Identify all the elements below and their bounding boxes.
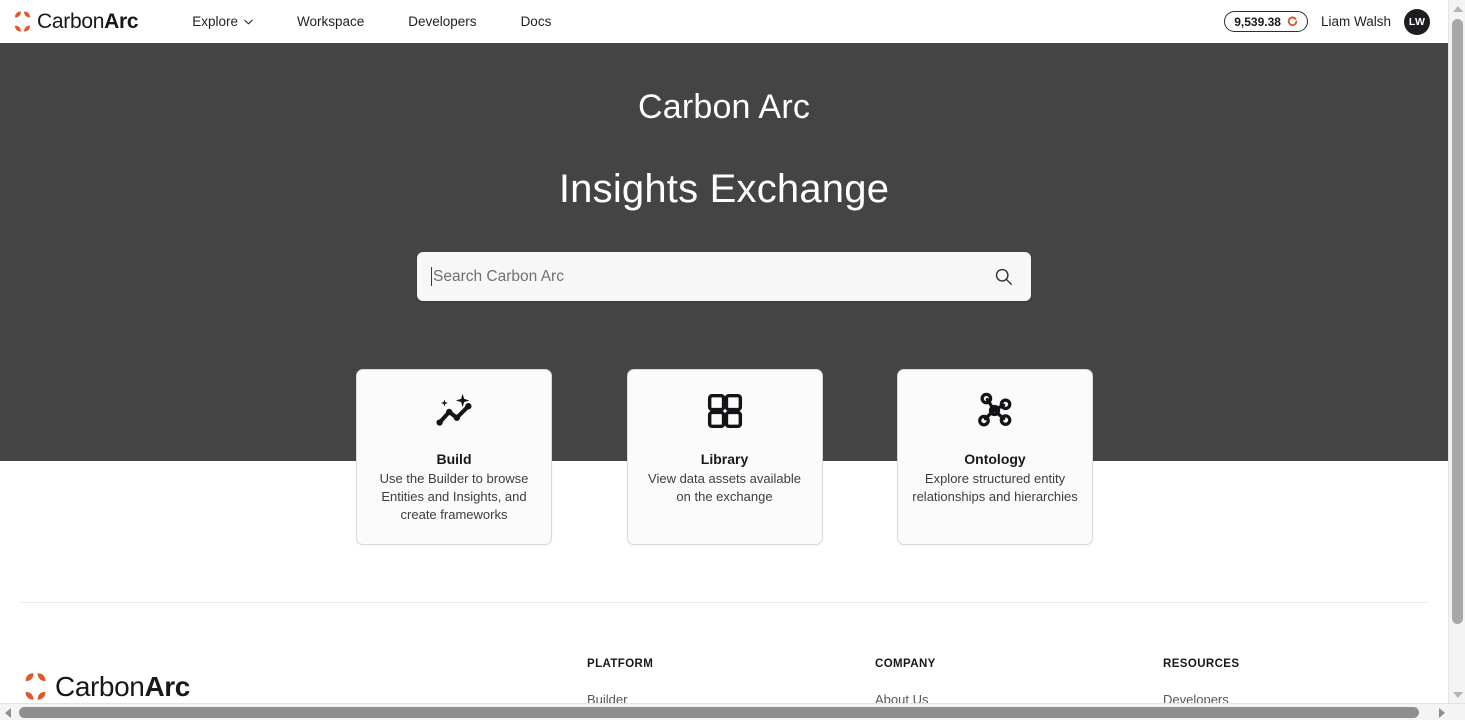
node-graph-icon [972, 388, 1018, 451]
trend-sparkle-icon [431, 388, 477, 451]
footer-brand-text: CarbonArc [55, 673, 190, 701]
scroll-left-arrow-icon[interactable] [5, 708, 11, 718]
avatar-initials: LW [1409, 16, 1425, 28]
search-input[interactable] [433, 268, 994, 286]
main-nav: Explore Workspace Developers Docs [170, 14, 573, 29]
card-description: Use the Builder to browse Entities and I… [371, 470, 537, 524]
arc-credit-icon [1287, 16, 1298, 27]
nav-item-label: Developers [408, 14, 476, 29]
nav-item-label: Docs [521, 14, 552, 29]
horizontal-scrollbar-thumb[interactable] [19, 707, 1419, 718]
card-description: View data assets available on the exchan… [642, 470, 808, 506]
quick-action-cards: Build Use the Builder to browse Entities… [356, 369, 1093, 545]
credit-balance-value: 9,539.38 [1234, 15, 1281, 29]
nav-item-developers[interactable]: Developers [386, 14, 498, 29]
card-title: Ontology [964, 451, 1025, 467]
carbonarc-pinwheel-logo-icon [19, 670, 52, 703]
page-subtitle: Insights Exchange [0, 167, 1448, 212]
grid-four-squares-icon [702, 388, 748, 451]
header-brand-logo[interactable]: CarbonArc [10, 9, 138, 34]
page-root: CarbonArc Explore Workspace Developers D… [0, 0, 1465, 720]
search-bar[interactable] [417, 252, 1031, 301]
vertical-scrollbar[interactable] [1448, 0, 1465, 720]
credit-balance-badge[interactable]: 9,539.38 [1224, 11, 1308, 32]
nav-item-label: Workspace [297, 14, 364, 29]
search-icon[interactable] [994, 267, 1013, 286]
nav-item-docs[interactable]: Docs [499, 14, 574, 29]
avatar[interactable]: LW [1404, 9, 1430, 35]
scroll-right-arrow-icon[interactable] [1439, 708, 1445, 718]
search-text-caret [431, 267, 432, 286]
card-title: Library [701, 451, 748, 467]
nav-item-explore[interactable]: Explore [170, 14, 275, 29]
top-navigation-bar: CarbonArc Explore Workspace Developers D… [0, 0, 1438, 43]
scroll-up-arrow-icon[interactable] [1453, 6, 1463, 12]
card-library[interactable]: Library View data assets available on th… [627, 369, 823, 545]
card-build[interactable]: Build Use the Builder to browse Entities… [356, 369, 552, 545]
page-title: Carbon Arc [0, 88, 1448, 127]
scroll-down-arrow-icon[interactable] [1453, 692, 1463, 698]
card-title: Build [437, 451, 472, 467]
carbonarc-pinwheel-logo-icon [10, 9, 35, 34]
chevron-down-icon [244, 19, 253, 25]
footer-divider [19, 602, 1429, 603]
footer-column-heading: COMPANY [875, 658, 1163, 670]
header-brand-text: CarbonArc [37, 11, 138, 32]
header-right-cluster: 9,539.38 Liam Walsh LW [1224, 9, 1430, 35]
user-name-label: Liam Walsh [1321, 14, 1391, 29]
footer-column-heading: RESOURCES [1163, 658, 1451, 670]
nav-item-workspace[interactable]: Workspace [275, 14, 386, 29]
horizontal-scrollbar[interactable] [0, 703, 1465, 720]
card-description: Explore structured entity relationships … [912, 470, 1078, 506]
nav-item-label: Explore [192, 14, 238, 29]
card-ontology[interactable]: Ontology Explore structured entity relat… [897, 369, 1093, 545]
footer-column-heading: PLATFORM [587, 658, 875, 670]
vertical-scrollbar-thumb[interactable] [1452, 19, 1463, 624]
